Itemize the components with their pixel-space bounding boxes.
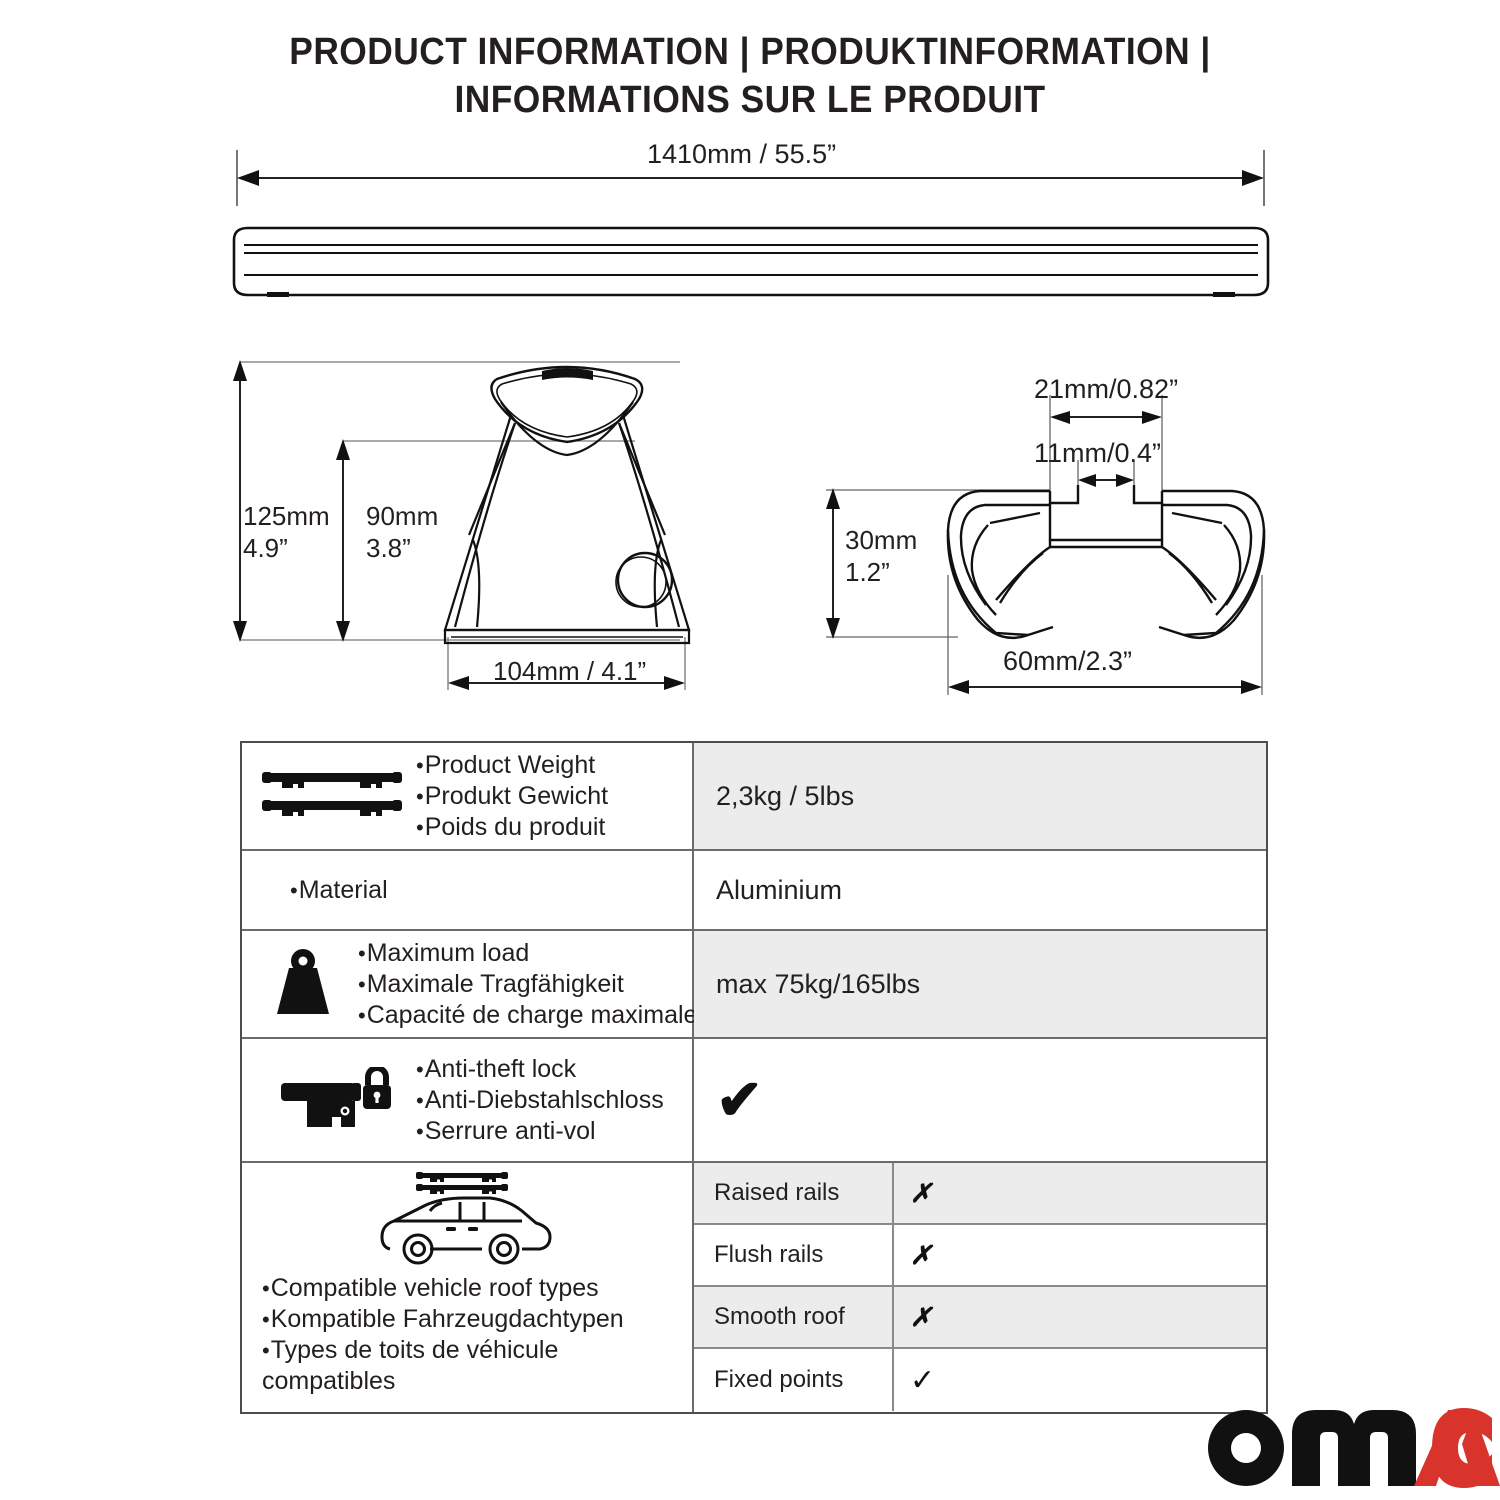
profile-height-dimension: 30mm1.2” [845, 524, 917, 588]
label-line: Anti-Diebstahlschloss [416, 1085, 664, 1116]
row-label-text: Anti-theft lock Anti-Diebstahlschloss Se… [416, 1054, 664, 1147]
car-with-rack-icon [367, 1169, 567, 1269]
omac-logo-mark [1200, 1404, 1500, 1492]
label-line: Product Weight [416, 750, 608, 781]
weight-icon [248, 948, 358, 1020]
label-line: Maximale Tragfähigkeit [358, 969, 697, 1000]
roof-option-raised-rails: Raised rails ✗ [694, 1163, 1266, 1225]
label-line: Serrure anti-vol [416, 1116, 664, 1147]
label-line: Material [290, 875, 388, 906]
roof-option-smooth-roof: Smooth roof ✗ [694, 1287, 1266, 1349]
row-label-cell: Material [242, 851, 694, 929]
row-label-text: Compatible vehicle roof types Kompatible… [242, 1273, 652, 1397]
profile-width-dimension: 60mm/2.3” [1003, 645, 1132, 677]
row-value-material: Aluminium [694, 851, 1266, 929]
row-label-text: Product Weight Produkt Gewicht Poids du … [416, 750, 608, 843]
cross-icon: ✗ [894, 1287, 1266, 1347]
label-line: Capacité de charge maximale [358, 1000, 697, 1031]
table-row-material: Material Aluminium [242, 851, 1266, 931]
cross-icon: ✗ [894, 1225, 1266, 1285]
label-line: Poids du produit [416, 812, 608, 843]
omac-logo [1200, 1404, 1500, 1492]
label-line: Types de toits de véhicule compatibles [262, 1335, 652, 1397]
cross-icon: ✗ [894, 1163, 1266, 1223]
roof-type-options: Raised rails ✗ Flush rails ✗ Smooth roof… [694, 1163, 1266, 1412]
roof-option-label: Smooth roof [694, 1287, 894, 1347]
label-line: Compatible vehicle roof types [262, 1273, 652, 1304]
roof-option-flush-rails: Flush rails ✗ [694, 1225, 1266, 1287]
profile-slot-inner-dimension: 11mm/0.4” [1034, 437, 1161, 469]
bar-length-dimension: 1410mm / 55.5” [647, 138, 836, 170]
check-icon: ✔ [716, 1072, 763, 1128]
label-line: Produkt Gewicht [416, 781, 608, 812]
technical-drawings: 1410mm / 55.5” [0, 0, 1500, 730]
profile-slot-outer-dimension: 21mm/0.82” [1034, 373, 1178, 405]
roof-option-label: Fixed points [694, 1349, 894, 1411]
row-label-cell: Compatible vehicle roof types Kompatible… [242, 1163, 694, 1412]
tower-height-inner-dimension: 90mm3.8” [366, 500, 438, 564]
row-label-text: Maximum load Maximale Tragfähigkeit Capa… [358, 938, 697, 1031]
roof-option-label: Flush rails [694, 1225, 894, 1285]
row-label-cell: Anti-theft lock Anti-Diebstahlschloss Se… [242, 1039, 694, 1161]
row-value-anti-theft-lock: ✔ [694, 1039, 1266, 1161]
specifications-table: Product Weight Produkt Gewicht Poids du … [240, 741, 1268, 1414]
row-label-cell: Product Weight Produkt Gewicht Poids du … [242, 743, 694, 849]
label-line: Kompatible Fahrzeugdachtypen [262, 1304, 652, 1335]
lock-icon [248, 1067, 416, 1133]
row-value-maximum-load: max 75kg/165lbs [694, 931, 1266, 1037]
tower-width-dimension: 104mm / 4.1” [493, 655, 646, 687]
row-label-cell: Maximum load Maximale Tragfähigkeit Capa… [242, 931, 694, 1037]
table-row-anti-theft-lock: Anti-theft lock Anti-Diebstahlschloss Se… [242, 1039, 1266, 1163]
check-icon: ✓ [894, 1349, 1266, 1411]
label-line: Maximum load [358, 938, 697, 969]
table-row-maximum-load: Maximum load Maximale Tragfähigkeit Capa… [242, 931, 1266, 1039]
roof-option-fixed-points: Fixed points ✓ [694, 1349, 1266, 1411]
roof-bars-icon [248, 767, 416, 825]
label-line: Anti-theft lock [416, 1054, 664, 1085]
table-row-compatible-roof-types: Compatible vehicle roof types Kompatible… [242, 1163, 1266, 1412]
roof-option-label: Raised rails [694, 1163, 894, 1223]
product-information-sheet: PRODUCT INFORMATION | PRODUKTINFORMATION… [0, 0, 1500, 1500]
table-row-product-weight: Product Weight Produkt Gewicht Poids du … [242, 743, 1266, 851]
row-label-text: Material [248, 875, 388, 906]
row-value-product-weight: 2,3kg / 5lbs [694, 743, 1266, 849]
tower-height-outer-dimension: 125mm4.9” [243, 500, 330, 564]
